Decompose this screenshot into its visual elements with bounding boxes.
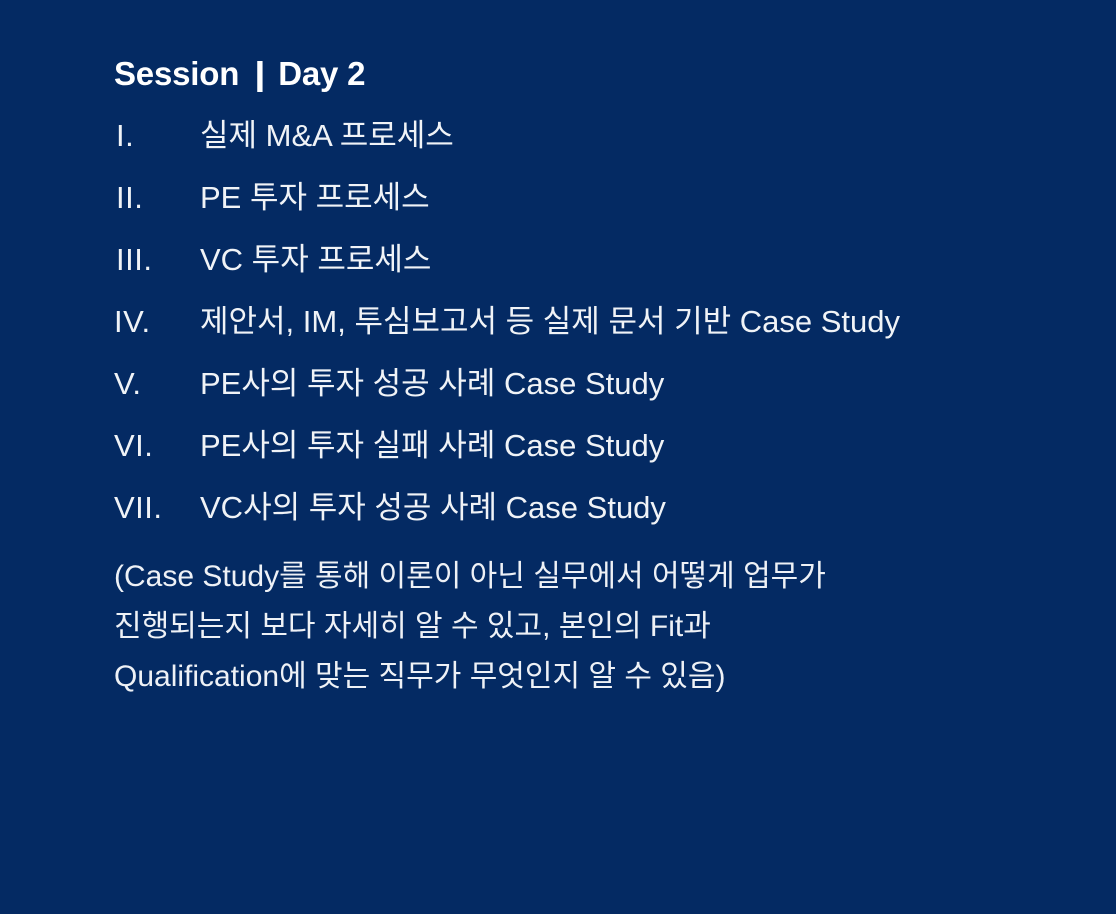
list-item: IV. 제안서, IM, 투심보고서 등 실제 문서 기반 Case Study xyxy=(114,296,1094,358)
closing-note-line: 진행되는지 보다 자세히 알 수 있고, 본인의 Fit과 xyxy=(114,602,1074,652)
page-title-sub: Day 2 xyxy=(278,56,365,92)
list-item: III. VC 투자 프로세스 xyxy=(114,234,1094,296)
page-title: Session | Day 2 xyxy=(114,56,365,92)
agenda-list: I. 실제 M&A 프로세스 II. PE 투자 프로세스 III. VC 투자… xyxy=(114,110,1094,544)
list-item-label: 제안서, IM, 투심보고서 등 실제 문서 기반 Case Study xyxy=(200,296,900,341)
list-item-numeral: VII. xyxy=(114,490,200,526)
closing-note-line: Qualification에 맞는 직무가 무엇인지 알 수 있음) xyxy=(114,652,1074,702)
list-item-numeral: V. xyxy=(114,366,200,402)
list-item: VI. PE사의 투자 실패 사례 Case Study xyxy=(114,420,1094,482)
list-item-label: PE사의 투자 성공 사례 Case Study xyxy=(200,358,664,403)
list-item: VII. VC사의 투자 성공 사례 Case Study xyxy=(114,482,1094,544)
list-item-label: VC사의 투자 성공 사례 Case Study xyxy=(200,482,666,527)
list-item-numeral: IV. xyxy=(114,304,200,340)
list-item-numeral: III. xyxy=(114,242,200,278)
list-item: I. 실제 M&A 프로세스 xyxy=(114,110,1094,172)
page-title-main: Session xyxy=(114,56,239,92)
closing-note: (Case Study를 통해 이론이 아닌 실무에서 어떻게 업무가 진행되는… xyxy=(114,552,1074,702)
closing-note-line: (Case Study를 통해 이론이 아닌 실무에서 어떻게 업무가 xyxy=(114,552,1074,602)
list-item: V. PE사의 투자 성공 사례 Case Study xyxy=(114,358,1094,420)
list-item-numeral: I. xyxy=(114,118,200,154)
list-item-label: VC 투자 프로세스 xyxy=(200,234,431,279)
list-item-label: PE 투자 프로세스 xyxy=(200,172,430,217)
list-item-numeral: VI. xyxy=(114,428,200,464)
list-item: II. PE 투자 프로세스 xyxy=(114,172,1094,234)
slide-canvas: Session | Day 2 I. 실제 M&A 프로세스 II. PE 투자… xyxy=(0,0,1116,914)
list-item-label: 실제 M&A 프로세스 xyxy=(200,110,454,155)
list-item-label: PE사의 투자 실패 사례 Case Study xyxy=(200,420,664,465)
title-separator-bar: | xyxy=(234,56,283,92)
list-item-numeral: II. xyxy=(114,180,200,216)
